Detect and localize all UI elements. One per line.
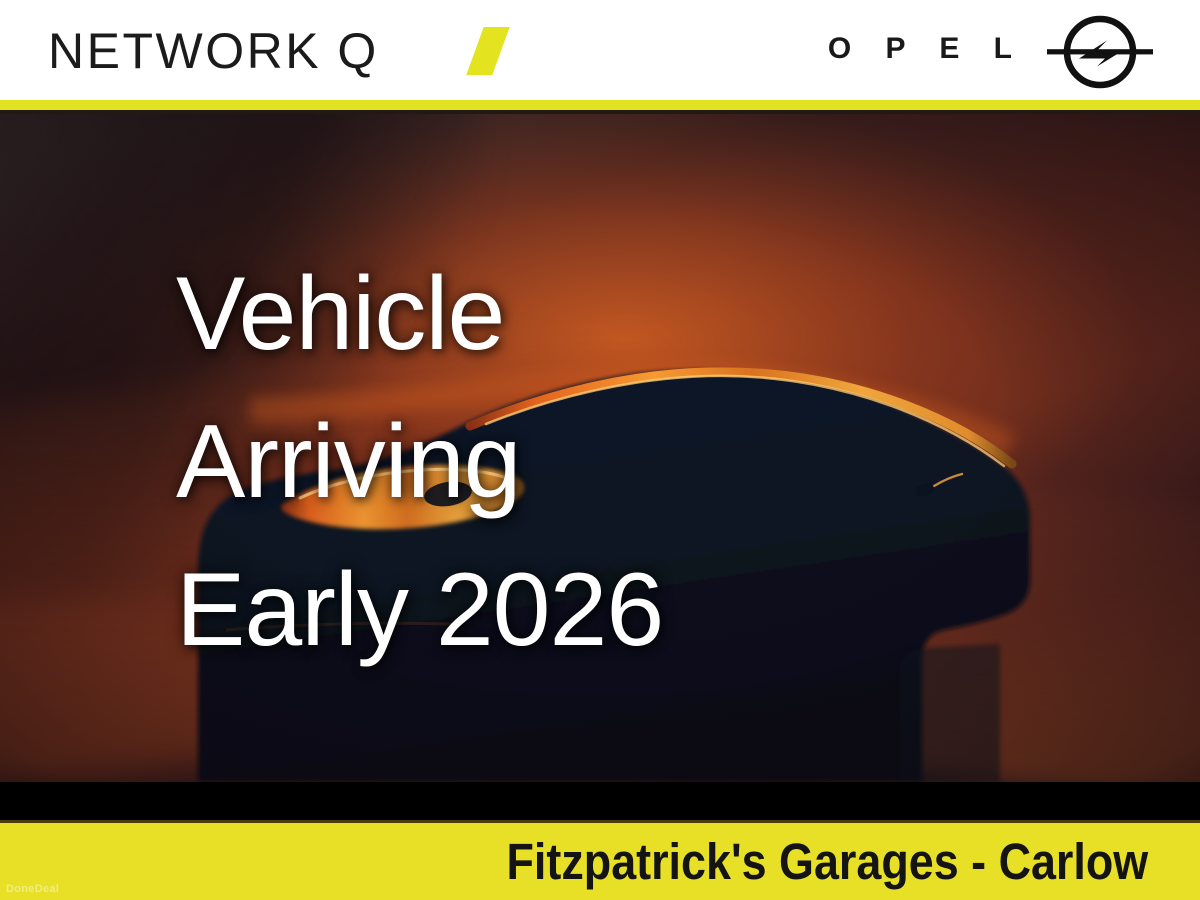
headline-line-3: Early 2026 (176, 536, 996, 684)
hero-image: Vehicle Arriving Early 2026 (0, 110, 1200, 782)
opel-blitz-logo-icon (1045, 11, 1155, 93)
yellow-slash-icon (466, 27, 512, 75)
vehicle-arriving-ad-card: NETWORK Q O P E L (0, 0, 1200, 900)
footer-band-edge (0, 820, 1200, 823)
network-q-wordmark: NETWORK Q (48, 23, 379, 79)
headline-line-1: Vehicle (176, 240, 996, 388)
watermark-label: DoneDeal (6, 883, 59, 896)
headline-line-2: Arriving (176, 388, 996, 536)
opel-wordmark: O P E L (828, 32, 1025, 66)
hero-headline: Vehicle Arriving Early 2026 (176, 240, 996, 684)
header-yellow-rule (0, 100, 1200, 110)
brand-header: NETWORK Q O P E L (0, 0, 1200, 100)
footer-black-band (0, 782, 1200, 822)
header-rule-shadow (0, 110, 1200, 114)
dealer-footer: Fitzpatrick's Garages - Carlow DoneDeal (0, 822, 1200, 900)
dealer-name-label: Fitzpatrick's Garages - Carlow (506, 834, 1148, 890)
